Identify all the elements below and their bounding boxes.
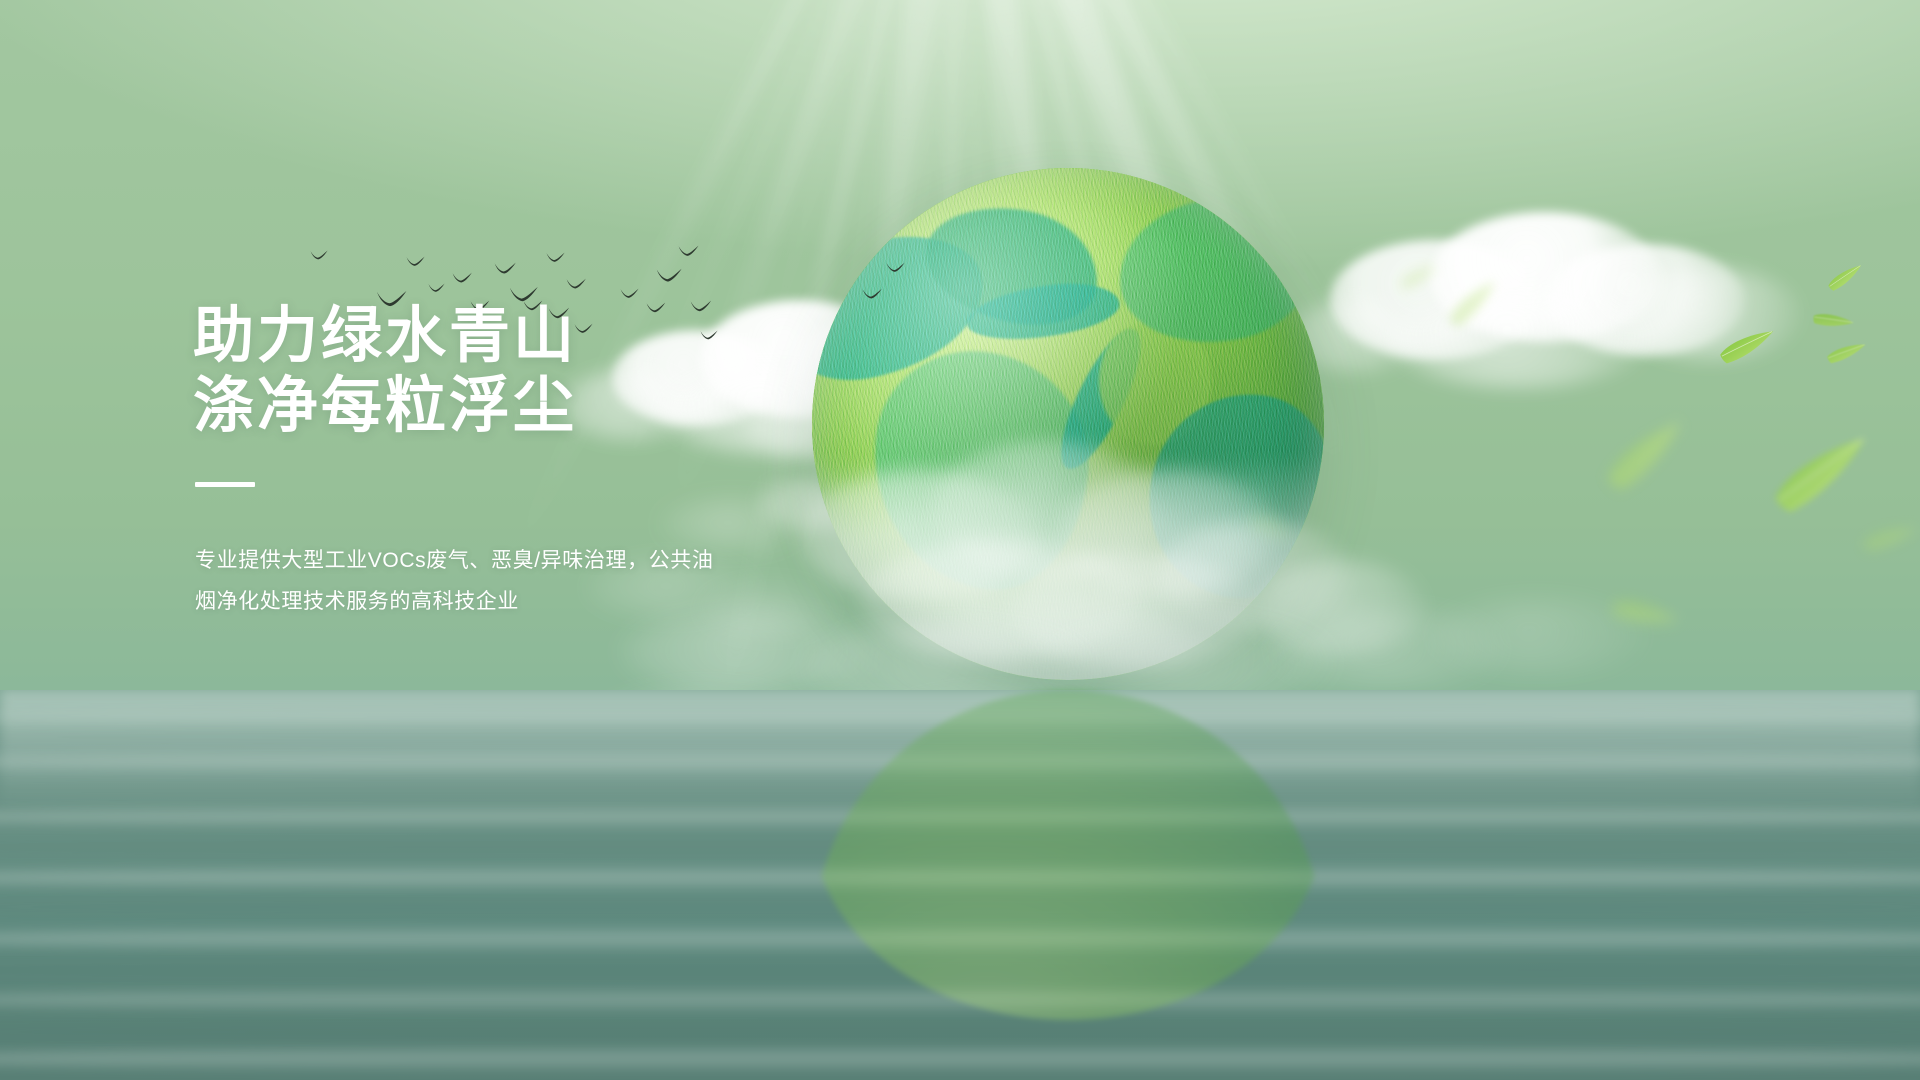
leaf-icon: [1764, 428, 1884, 521]
headline-line-2: 涤净每粒浮尘: [193, 370, 893, 440]
leaf-icon: [1396, 261, 1444, 293]
leaf-icon: [1716, 327, 1780, 366]
leaf-icon: [1825, 342, 1869, 365]
title-divider: [195, 482, 255, 487]
leaf-icon: [1247, 508, 1300, 553]
banner-copy: 助力绿水青山 涤净每粒浮尘 专业提供大型工业VOCs废气、恶臭/异味治理，公共油…: [193, 300, 893, 623]
water-ripple: [0, 1024, 1920, 1040]
leaf-icon: [1825, 262, 1868, 294]
water-ripple: [0, 1046, 1920, 1072]
hero-banner: 助力绿水青山 涤净每粒浮尘 专业提供大型工业VOCs废气、恶臭/异味治理，公共油…: [0, 0, 1920, 1080]
leaf-icon: [1811, 309, 1856, 336]
page-title: 助力绿水青山 涤净每粒浮尘: [193, 300, 893, 440]
leaf-icon: [1861, 524, 1920, 554]
leaf-icon: [1607, 590, 1682, 642]
leaf-icon: [1597, 414, 1700, 499]
leaf-icon: [1443, 277, 1508, 332]
banner-subtitle: 专业提供大型工业VOCs废气、恶臭/异味治理，公共油烟净化处理技术服务的高科技企…: [195, 541, 735, 623]
headline-line-1: 助力绿水青山: [193, 301, 577, 369]
